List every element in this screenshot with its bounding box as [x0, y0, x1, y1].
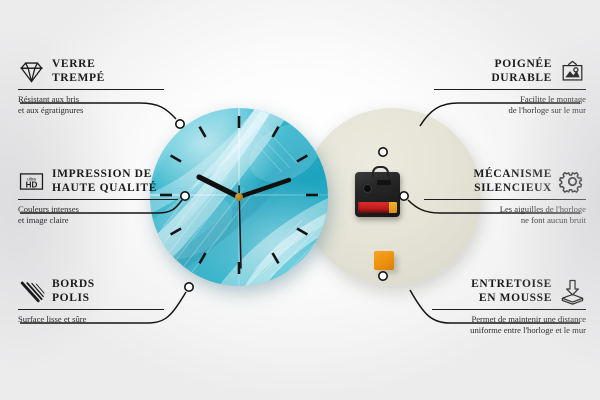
ultra-hd-icon: ultra HD: [18, 168, 45, 195]
callout-poignee-durable: POIGNÉE DURABLE Facilite le montage de l…: [416, 58, 586, 115]
callout-description: Facilite le montage de l'horloge sur le …: [416, 94, 586, 115]
callout-header: MÉCANISME SILENCIEUX: [406, 168, 586, 195]
mechanism-slot: [377, 180, 391, 185]
title-line-2: EN MOUSSE: [471, 292, 552, 306]
title-line-2: SILENCIEUX: [473, 182, 552, 196]
desc-line-1: Résistant aux bris: [18, 94, 186, 105]
callout-rule: [18, 309, 164, 310]
callout-entretoise-en-mousse: ENTRETOISE EN MOUSSE Permet de maintenir…: [414, 278, 586, 335]
hanging-picture-frame-icon: [559, 58, 586, 85]
callout-verre-trempe: VERRE TREMPÉ Résistant aux bris et aux é…: [18, 58, 186, 115]
desc-line-1: Les aiguilles de l'horloge: [406, 204, 586, 215]
callout-impression-haute-qualite: ultra HD IMPRESSION DE HAUTE QUALITÉ Cou…: [18, 168, 200, 225]
mechanism-hanger-tab: [372, 166, 389, 177]
arrow-onto-foam-icon: [559, 278, 586, 305]
diamond-icon: [18, 58, 45, 85]
title-line-1: ENTRETOISE: [471, 278, 552, 292]
mechanism-knob: [363, 184, 372, 193]
callout-description: Couleurs intenses et image claire: [18, 204, 200, 225]
callout-header: ultra HD IMPRESSION DE HAUTE QUALITÉ: [18, 168, 200, 195]
callout-header: ENTRETOISE EN MOUSSE: [414, 278, 586, 305]
desc-line-1: Permet de maintenir une distance: [414, 314, 586, 325]
callout-title: IMPRESSION DE HAUTE QUALITÉ: [52, 168, 157, 195]
callout-rule: [424, 199, 586, 200]
foam-spacer: [374, 251, 394, 270]
callout-header: POIGNÉE DURABLE: [416, 58, 586, 85]
title-line-2: POLIS: [52, 292, 95, 306]
callout-title: MÉCANISME SILENCIEUX: [473, 168, 552, 195]
desc-line-1: Couleurs intenses: [18, 204, 200, 215]
callout-rule: [434, 89, 586, 90]
title-line-2: TREMPÉ: [52, 72, 105, 86]
callout-description: Les aiguilles de l'horloge ne font aucun…: [406, 204, 586, 225]
desc-line-1: Surface lisse et sûre: [18, 314, 186, 325]
callout-description: Résistant aux bris et aux égratignures: [18, 94, 186, 115]
gear-icon: [559, 168, 586, 195]
title-line-1: POIGNÉE: [491, 58, 552, 72]
callout-rule: [432, 309, 586, 310]
title-line-1: VERRE: [52, 58, 105, 72]
title-line-2: DURABLE: [491, 72, 552, 86]
callout-title: ENTRETOISE EN MOUSSE: [471, 278, 552, 305]
desc-line-2: de l'horloge sur le mur: [416, 105, 586, 116]
callout-description: Permet de maintenir une distance uniform…: [414, 314, 586, 335]
callout-header: VERRE TREMPÉ: [18, 58, 186, 85]
callout-rule: [18, 89, 164, 90]
callout-title: BORDS POLIS: [52, 278, 95, 305]
callout-mecanisme-silencieux: MÉCANISME SILENCIEUX Les aiguilles de l'…: [406, 168, 586, 225]
desc-line-1: Facilite le montage: [416, 94, 586, 105]
desc-line-2: uniforme entre l'horloge et le mur: [414, 325, 586, 336]
svg-text:HD: HD: [26, 181, 38, 190]
diagonal-stripes-icon: [18, 278, 45, 305]
title-line-2: HAUTE QUALITÉ: [52, 182, 157, 196]
callout-title: VERRE TREMPÉ: [52, 58, 105, 85]
title-line-1: BORDS: [52, 278, 95, 292]
callout-rule: [18, 199, 178, 200]
title-line-1: IMPRESSION DE: [52, 168, 157, 182]
battery-cap: [389, 202, 397, 213]
callout-description: Surface lisse et sûre: [18, 314, 186, 325]
callout-header: BORDS POLIS: [18, 278, 186, 305]
desc-line-2: et image claire: [18, 215, 200, 226]
title-line-1: MÉCANISME: [473, 168, 552, 182]
desc-line-2: et aux égratignures: [18, 105, 186, 116]
clock-hands-hub: [235, 193, 243, 201]
infographic-canvas: VERRE TREMPÉ Résistant aux bris et aux é…: [0, 0, 600, 400]
desc-line-2: ne font aucun bruit: [406, 215, 586, 226]
callout-bords-polis: BORDS POLIS Surface lisse et sûre: [18, 278, 186, 325]
callout-title: POIGNÉE DURABLE: [491, 58, 552, 85]
